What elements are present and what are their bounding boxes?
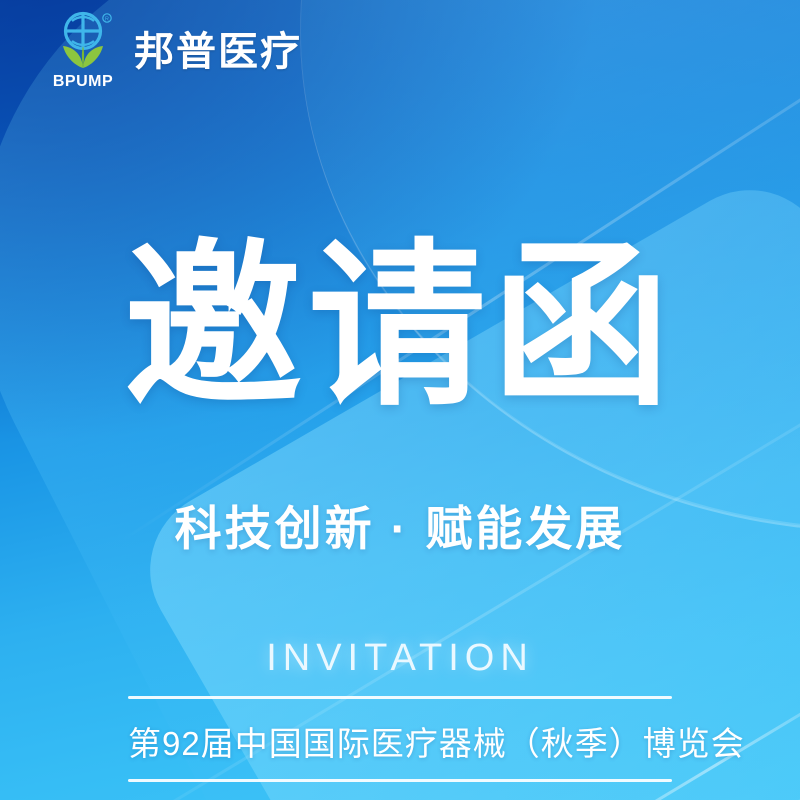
footer-divider-bottom — [128, 779, 672, 782]
bpump-emblem-icon: R BPUMP — [52, 10, 118, 90]
event-name: 第92届中国国际医疗器械（秋季）博览会 — [128, 699, 672, 779]
brand-lockup: R BPUMP 邦普医疗 — [52, 10, 302, 90]
svg-text:R: R — [105, 17, 109, 23]
page-title: 邀请函 — [0, 238, 800, 416]
subtitle-slogan: 科技创新 · 赋能发展 — [0, 416, 800, 559]
invitation-poster: R BPUMP 邦普医疗 邀请函 科技创新 · 赋能发展 INVITATION … — [0, 0, 800, 800]
bpump-wordmark: BPUMP — [53, 73, 113, 90]
bpump-logo: R BPUMP — [52, 10, 118, 90]
footer-block: 第92届中国国际医疗器械（秋季）博览会 — [128, 696, 672, 782]
center-content: 邀请函 科技创新 · 赋能发展 INVITATION — [0, 238, 800, 680]
company-name: 邦普医疗 — [134, 32, 302, 72]
invitation-english-label: INVITATION — [0, 559, 800, 680]
